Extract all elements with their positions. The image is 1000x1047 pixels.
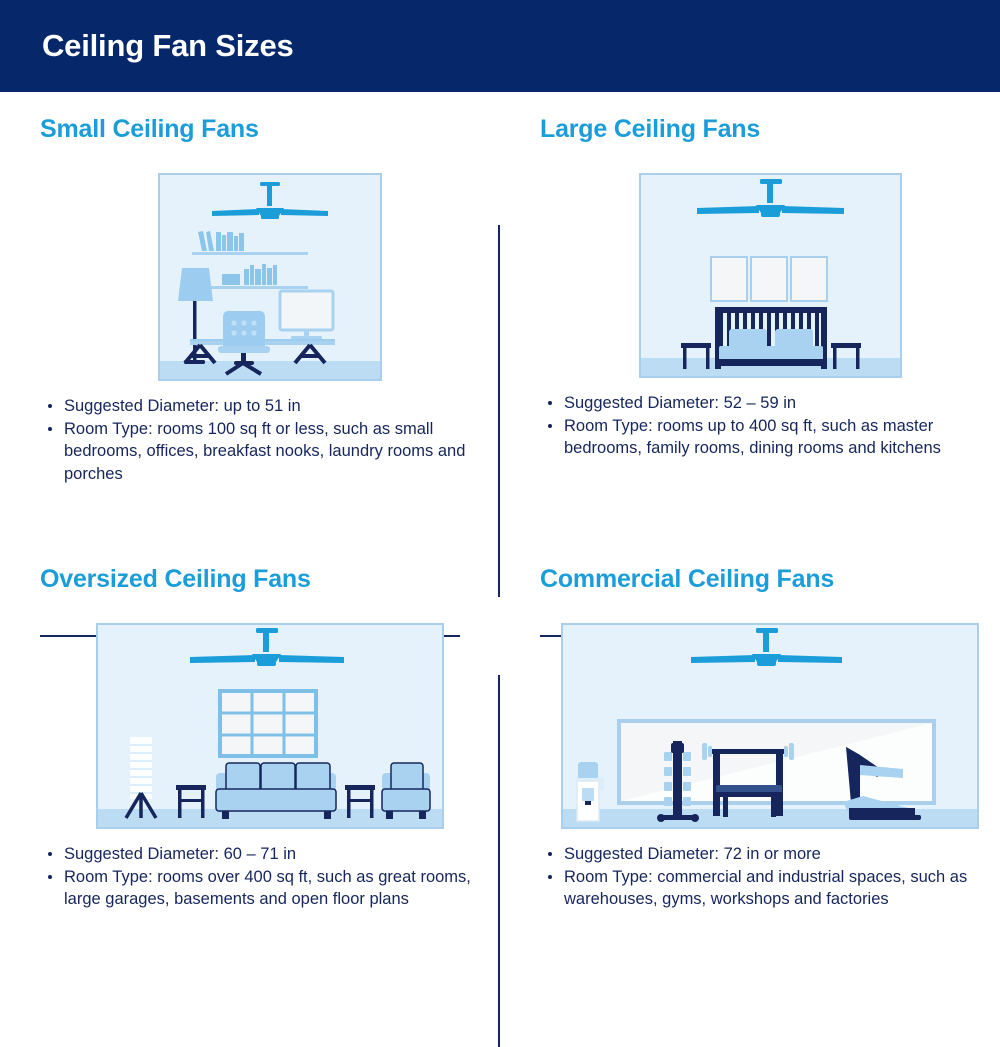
- desk-trestle-right: [295, 345, 325, 363]
- home-office-scene: [158, 173, 382, 381]
- page-title: Ceiling Fan Sizes: [0, 28, 294, 64]
- illustration-wrap-oversized: [40, 597, 500, 829]
- list-item: Room Type: rooms 100 sq ft or less, such…: [40, 418, 500, 486]
- armchair-icon: [382, 763, 430, 819]
- living-room-scene: [96, 623, 444, 829]
- illustration-wrap-small: [40, 147, 500, 381]
- bullet-list-small: Suggested Diameter: up to 51 in Room Typ…: [40, 395, 500, 485]
- list-item: Suggested Diameter: 60 – 71 in: [40, 843, 500, 866]
- bullet-list-commercial: Suggested Diameter: 72 in or more Room T…: [540, 843, 1000, 911]
- illustration-wrap-large: [540, 147, 1000, 378]
- section-small-ceiling-fans: Small Ceiling Fans: [40, 117, 500, 485]
- ceiling-fan-icon: [212, 182, 328, 219]
- sections-grid: Small Ceiling Fans: [0, 92, 1000, 1000]
- list-item: Suggested Diameter: 72 in or more: [540, 843, 1000, 866]
- list-item: Room Type: rooms up to 400 sq ft, such a…: [540, 415, 1000, 460]
- ceiling-fan-icon: [691, 628, 842, 666]
- section-large-ceiling-fans: Large Ceiling Fans: [540, 117, 1000, 460]
- bedroom-scene: [639, 173, 902, 378]
- ceiling-fan-icon: [190, 628, 344, 666]
- wall-art-icon: [711, 257, 827, 301]
- infographic-page: Ceiling Fan Sizes Small Ceiling Fans: [0, 0, 1000, 1000]
- list-item: Room Type: rooms over 400 sq ft, such as…: [40, 866, 500, 911]
- list-item: Suggested Diameter: up to 51 in: [40, 395, 500, 418]
- section-oversized-ceiling-fans: Oversized Ceiling Fans: [40, 567, 500, 911]
- window-icon: [220, 691, 316, 756]
- bed-icon: [715, 307, 827, 369]
- page-header: Ceiling Fan Sizes: [0, 0, 1000, 92]
- section-commercial-ceiling-fans: Commercial Ceiling Fans: [540, 567, 1000, 911]
- bullet-list-oversized: Suggested Diameter: 60 – 71 in Room Type…: [40, 843, 500, 911]
- illustration-wrap-commercial: [540, 597, 1000, 829]
- monitor-icon: [280, 291, 333, 340]
- bullet-list-large: Suggested Diameter: 52 – 59 in Room Type…: [540, 392, 1000, 460]
- ceiling-fan-icon: [697, 179, 844, 217]
- section-title-large: Large Ceiling Fans: [540, 117, 1000, 147]
- tripod-floor-lamp-icon: [126, 737, 156, 818]
- sofa-icon: [216, 763, 336, 819]
- section-title-commercial: Commercial Ceiling Fans: [540, 567, 1000, 597]
- list-item: Suggested Diameter: 52 – 59 in: [540, 392, 1000, 415]
- section-title-small: Small Ceiling Fans: [40, 117, 500, 147]
- list-item: Room Type: commercial and industrial spa…: [540, 866, 1000, 911]
- section-title-oversized: Oversized Ceiling Fans: [40, 567, 500, 597]
- gym-scene: [561, 623, 979, 829]
